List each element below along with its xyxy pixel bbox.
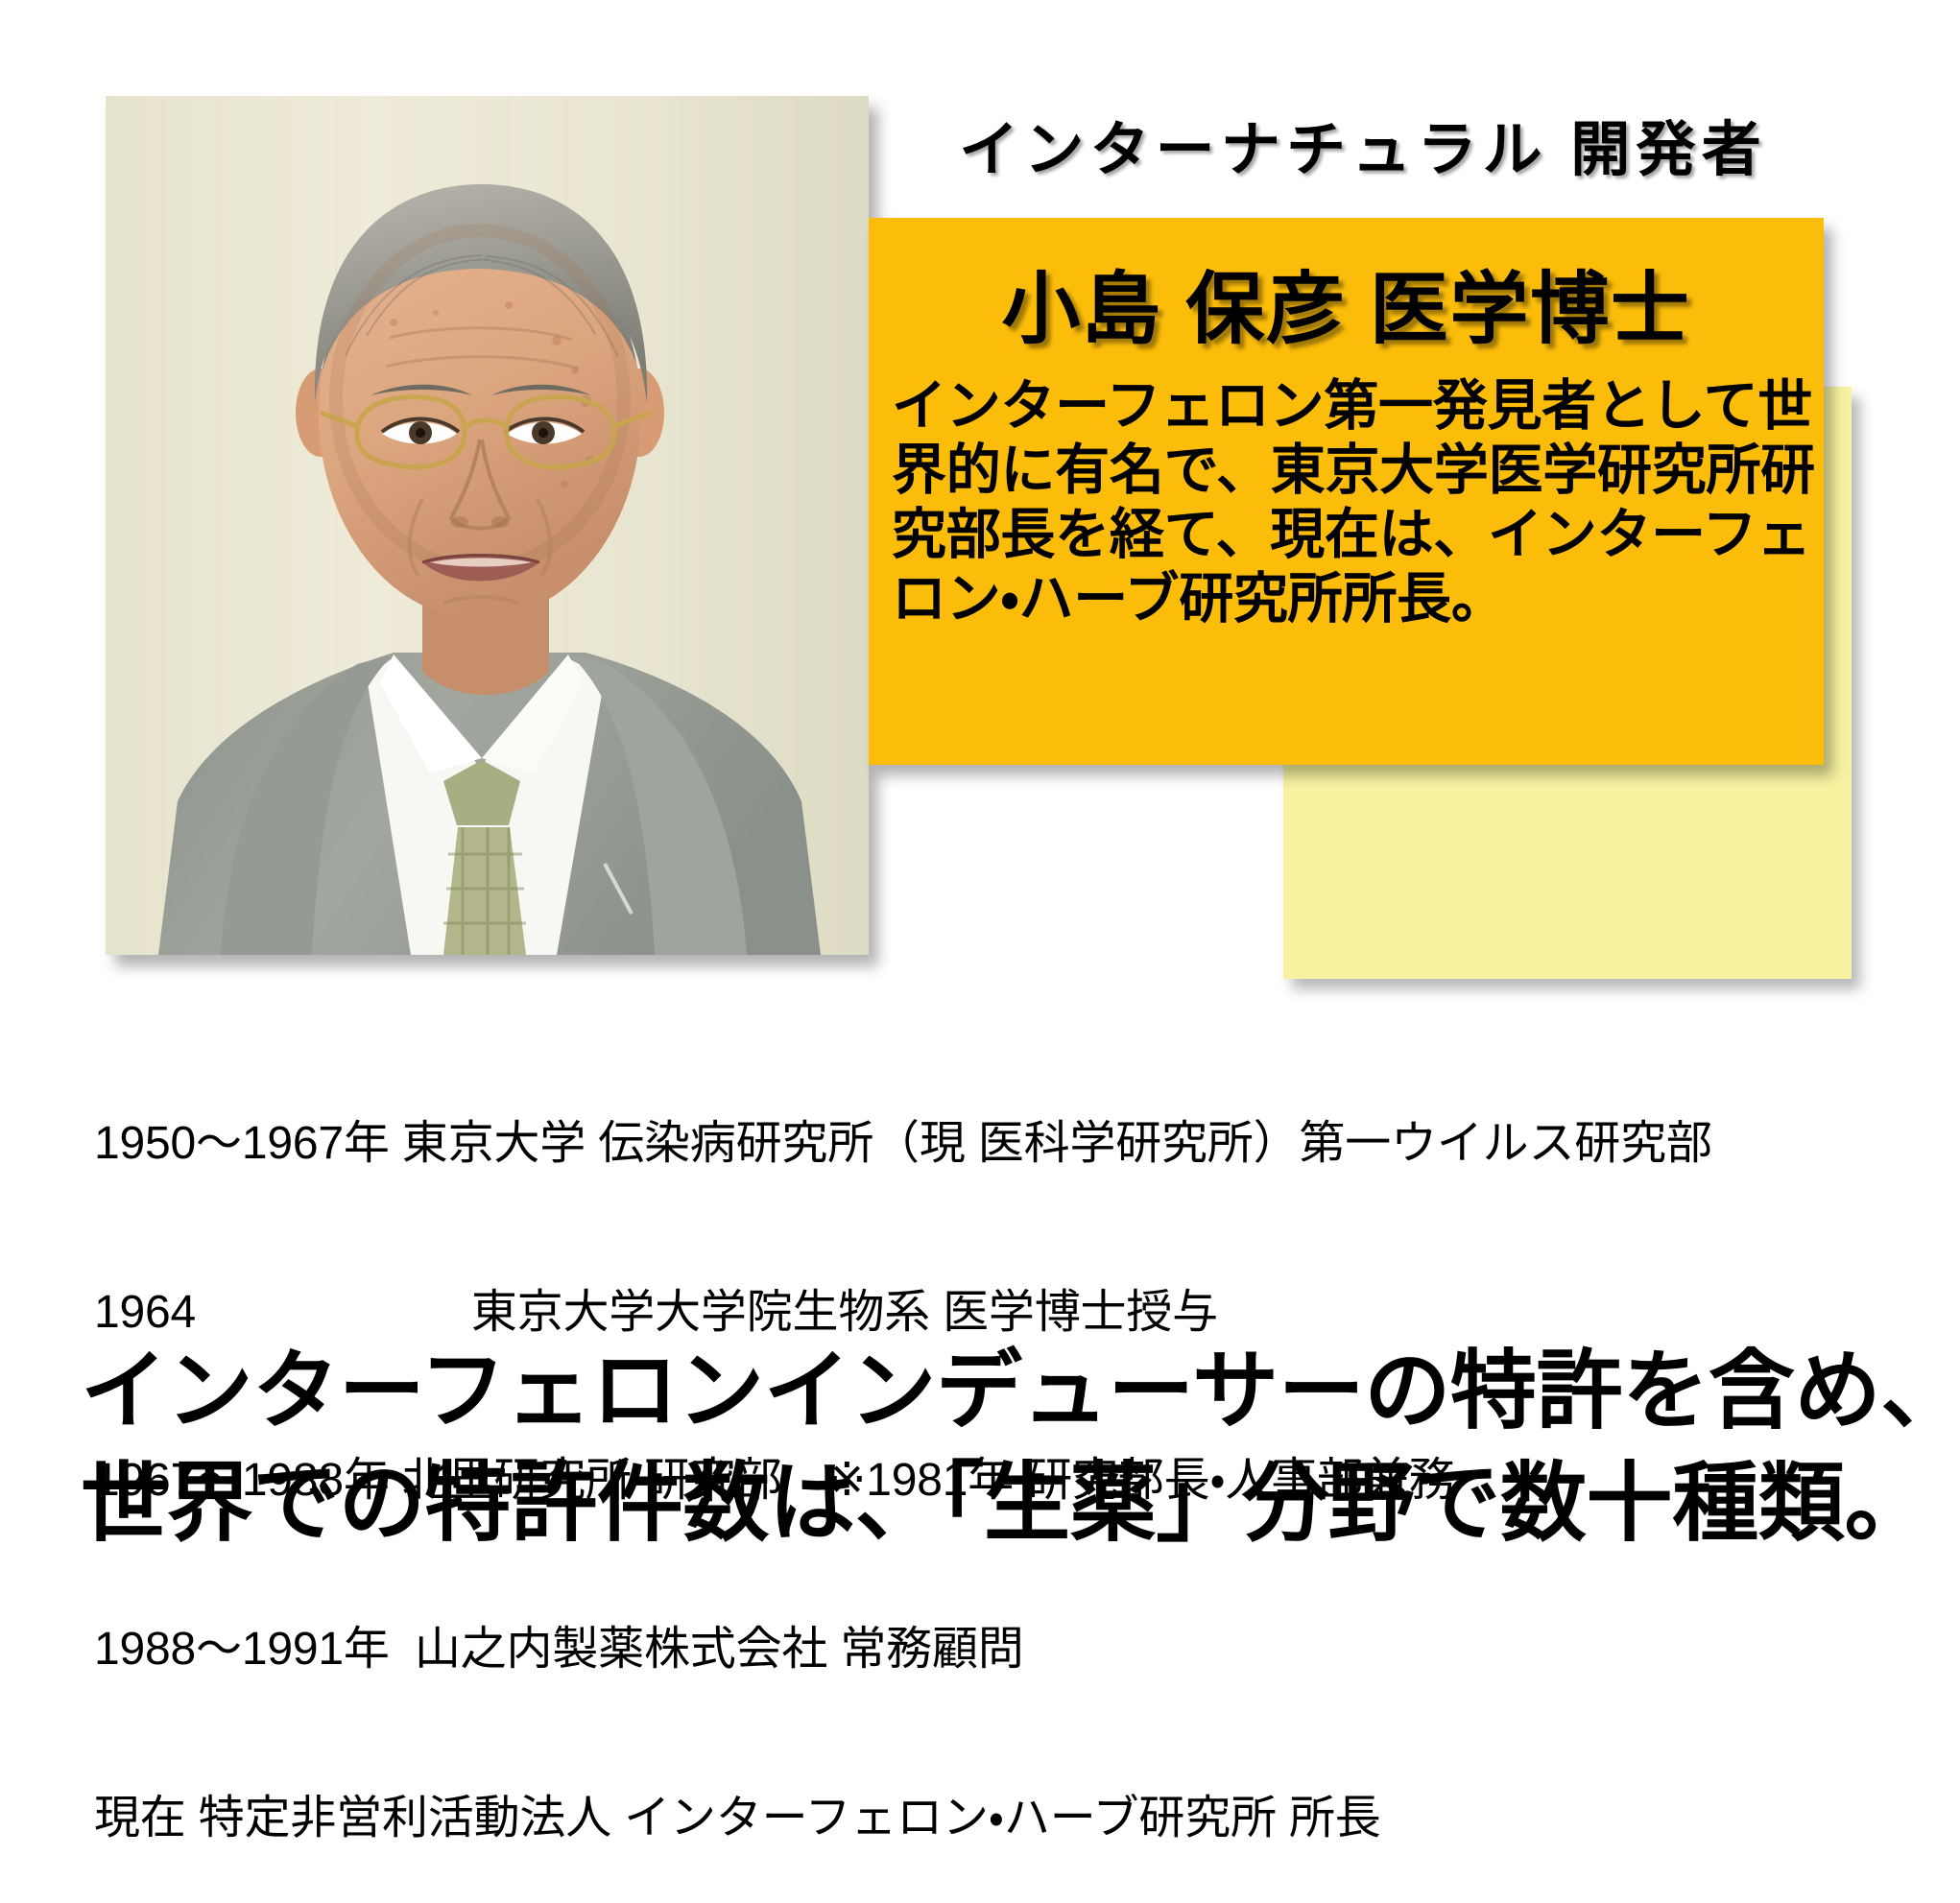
doctor-name: 小島 保彦 医学博士 [869, 245, 1824, 359]
profile-card: 小島 保彦 医学博士 インターフェロン第一発見者として世界的に有名で、東京大学医… [869, 218, 1824, 765]
portrait-photo [106, 96, 869, 955]
patent-headline-line: インターフェロンインデューサーの特許を含め、 [81, 1336, 1933, 1448]
career-line: 現在 特定非営利活動法人 インターフェロン・ハーブ研究所 所長 [94, 1791, 1918, 1847]
career-line: 1950〜1967年 東京大学 伝染病研究所（現 医科学研究所）第一ウイルス研究… [94, 1116, 1918, 1173]
patent-headline: インターフェロンインデューサーの特許を含め、 世界での特許件数は、「生薬」分野で… [81, 1336, 1933, 1560]
career-line: 1964 東京大学大学院生物系 医学博士授与 [94, 1285, 1918, 1342]
doctor-bio: インターフェロン第一発見者として世界的に有名で、東京大学医学研究所研究部長を経て… [892, 374, 1821, 631]
career-line: 1988〜1991年 山之内製薬株式会社 常務顧問 [94, 1622, 1918, 1678]
page-title: インターナチュラル 開発者 [869, 91, 1857, 197]
patent-headline-line: 世界での特許件数は、「生薬」分野で数十種類。 [81, 1448, 1933, 1560]
portrait-illustration [106, 96, 869, 955]
